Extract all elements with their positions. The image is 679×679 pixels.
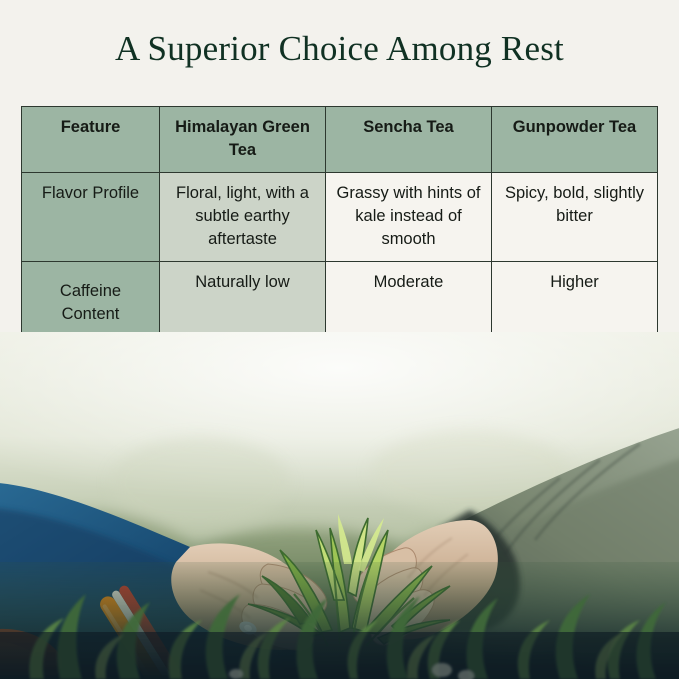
cell-himalayan-caffeine: Naturally low: [160, 262, 326, 339]
cell-feature-flavor: Flavor Profile: [22, 173, 160, 262]
cell-himalayan-flavor: Floral, light, with a subtle earthy afte…: [160, 173, 326, 262]
column-header-himalayan: Himalayan Green Tea: [160, 107, 326, 173]
column-header-gunpowder: Gunpowder Tea: [492, 107, 658, 173]
cell-feature-caffeine: Caffeine Content: [22, 262, 160, 339]
tea-harvest-photo: [0, 332, 679, 679]
column-header-feature: Feature: [22, 107, 160, 173]
table-header-row: Feature Himalayan Green Tea Sencha Tea G…: [22, 107, 658, 173]
page-title-wrap: A Superior Choice Among Rest: [0, 27, 679, 71]
tea-harvest-photo-illustration: [0, 332, 679, 679]
cell-sencha-caffeine: Moderate: [326, 262, 492, 339]
cell-gunpowder-caffeine: Higher: [492, 262, 658, 339]
column-header-sencha: Sencha Tea: [326, 107, 492, 173]
table-body: Flavor Profile Floral, light, with a sub…: [22, 173, 658, 339]
cell-sencha-flavor: Grassy with hints of kale instead of smo…: [326, 173, 492, 262]
infographic-page: A Superior Choice Among Rest Feature Him…: [0, 0, 679, 679]
page-title: A Superior Choice Among Rest: [0, 27, 679, 71]
table-row: Caffeine Content Naturally low Moderate …: [22, 262, 658, 339]
tea-comparison-table: Feature Himalayan Green Tea Sencha Tea G…: [21, 106, 658, 339]
table-header: Feature Himalayan Green Tea Sencha Tea G…: [22, 107, 658, 173]
cell-gunpowder-flavor: Spicy, bold, slightly bitter: [492, 173, 658, 262]
table-row: Flavor Profile Floral, light, with a sub…: [22, 173, 658, 262]
